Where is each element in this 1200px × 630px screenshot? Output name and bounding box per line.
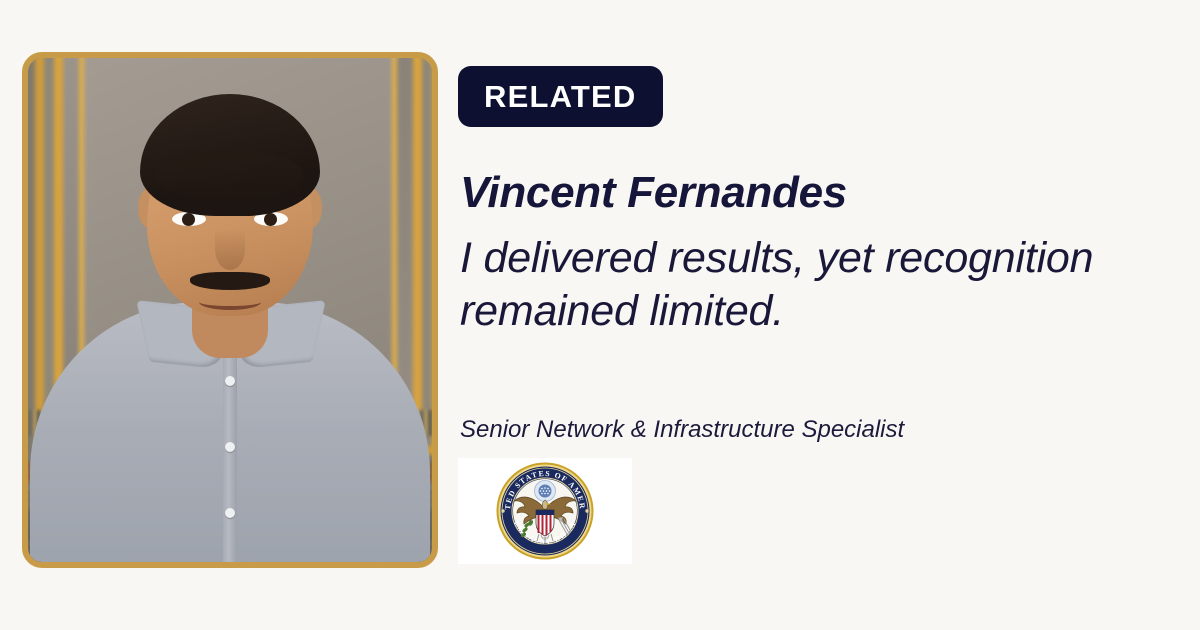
person-photo — [22, 52, 438, 568]
photo-subject — [28, 58, 432, 562]
subject-nose — [215, 228, 245, 270]
related-badge: RELATED — [458, 66, 663, 127]
organization-logo: UNITED STATES OF AMERICA EMBASSY DOHA — [458, 458, 632, 564]
subject-shirt-button — [225, 442, 235, 452]
photo-image — [28, 58, 432, 562]
subject-mouth — [199, 294, 261, 310]
person-quote: I delivered results, yet recognition rem… — [460, 232, 1160, 339]
subject-hair — [140, 94, 320, 216]
card-content: RELATED Vincent Fernandes I delivered re… — [458, 0, 1178, 630]
subject-shirt-button — [225, 508, 235, 518]
related-person-card: RELATED Vincent Fernandes I delivered re… — [0, 0, 1200, 630]
person-role: Senior Network & Infrastructure Speciali… — [460, 416, 904, 444]
us-embassy-doha-seal-icon: UNITED STATES OF AMERICA EMBASSY DOHA — [495, 461, 595, 561]
person-name: Vincent Fernandes — [460, 168, 847, 218]
subject-shirt-button — [225, 376, 235, 386]
subject-moustache — [190, 272, 270, 290]
